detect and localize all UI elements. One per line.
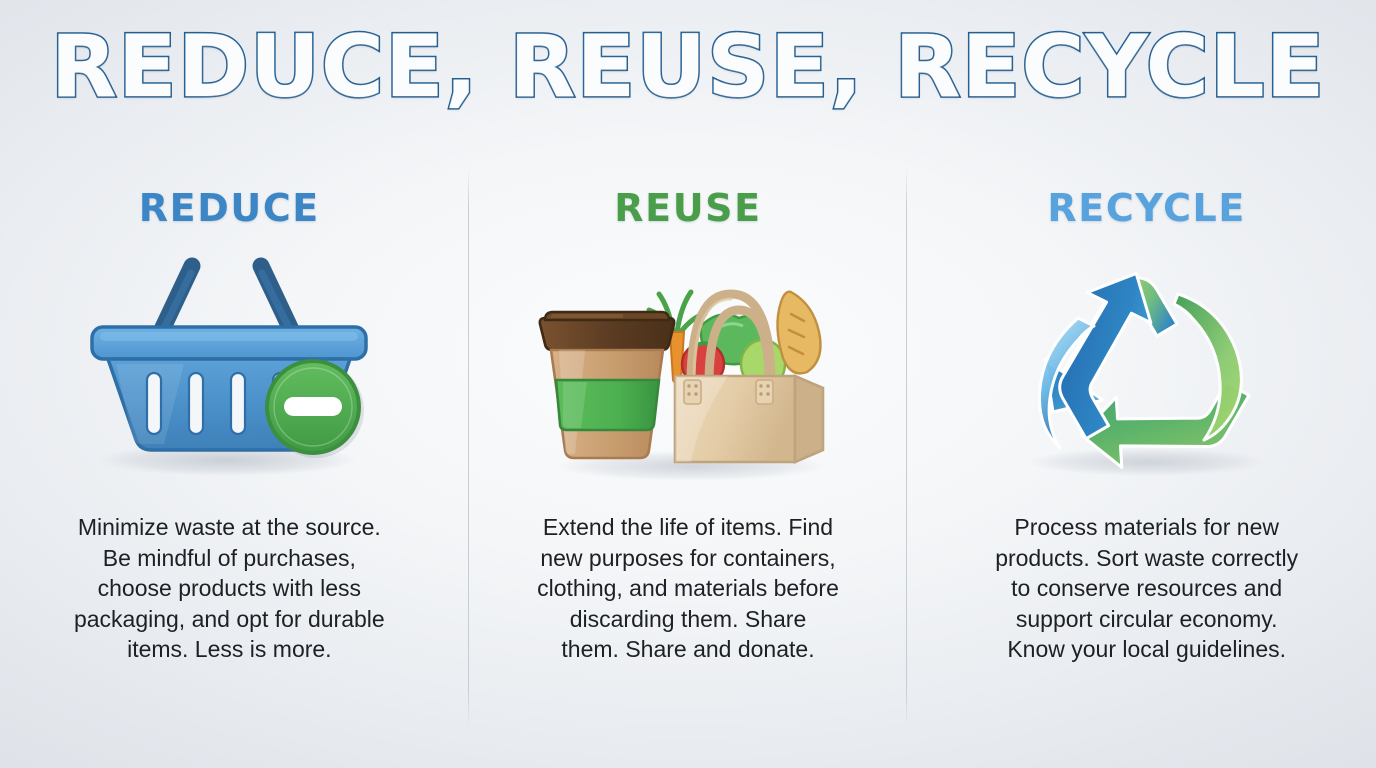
column-heading-recycle: RECYCLE [1047,186,1246,230]
reusable-cup-and-tote-bag-icon [523,254,853,486]
bag-side [795,376,823,462]
recycle-arrows-icon [982,254,1312,486]
poster-root: REDUCE, REUSE, RECYCLE REDUCE [0,0,1376,768]
baguette [777,292,820,374]
tote-bag [649,292,823,462]
recycle-shadow [1027,448,1267,476]
poster-title-container: REDUCE, REUSE, RECYCLE [0,22,1376,132]
column-body-recycle: Process materials for new products. Sort… [962,512,1332,665]
column-heading-reuse: REUSE [614,186,761,230]
column-reduce: REDUCE [0,160,459,730]
shopping-basket-minus-icon [64,254,394,486]
cup-lid [540,318,674,350]
reusable-coffee-cup [540,312,674,458]
column-body-reduce: Minimize waste at the source. Be mindful… [44,512,414,665]
basket-rim [92,327,366,359]
column-recycle: RECYCLE [917,160,1376,730]
column-reuse: REUSE [459,160,918,730]
page-title: REDUCE, REUSE, RECYCLE [51,22,1326,112]
columns-container: REDUCE [0,160,1376,730]
column-heading-reduce: REDUCE [139,186,320,230]
column-body-reuse: Extend the life of items. Find new purpo… [503,512,873,665]
